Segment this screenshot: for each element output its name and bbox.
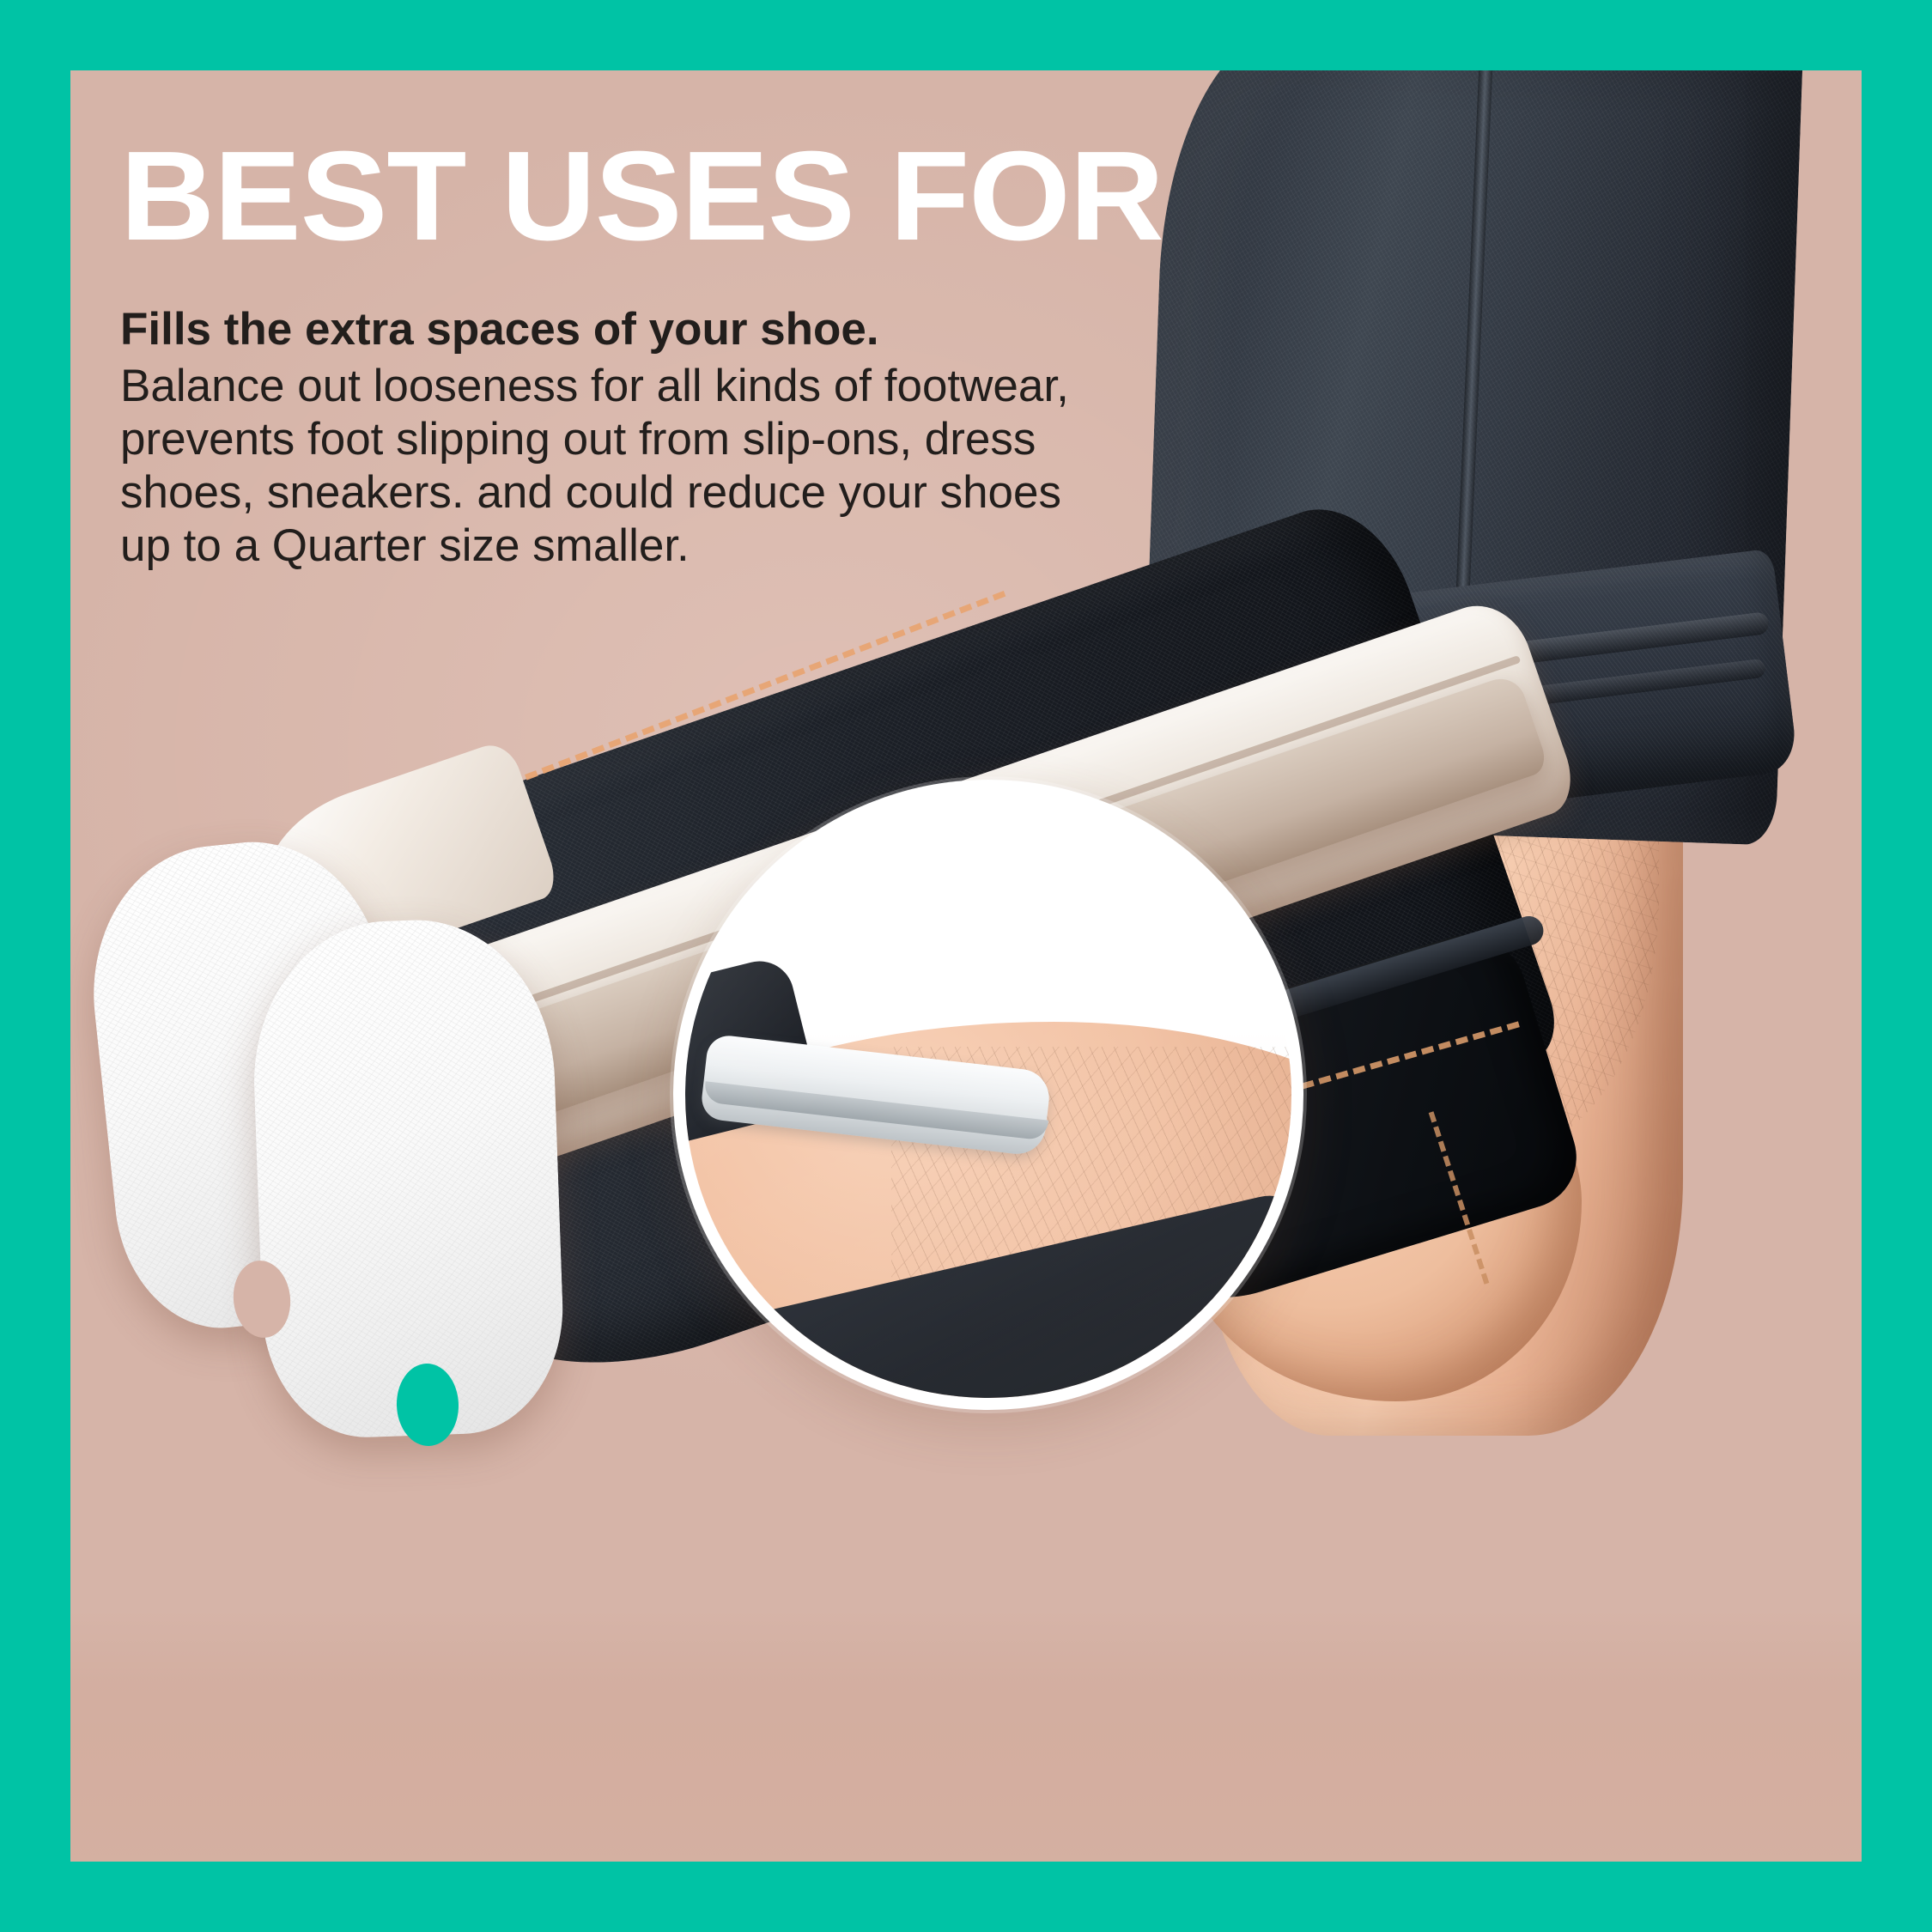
body-paragraph: Balance out looseness for all kinds of f…: [120, 360, 1194, 573]
photo-canvas: BEST USES FOR Fills the extra spaces of …: [70, 70, 1862, 1862]
body-line: prevents foot slipping out from slip-ons…: [120, 413, 1194, 466]
body-line: Balance out looseness for all kinds of f…: [120, 360, 1194, 413]
insert-pad-front: [249, 915, 568, 1441]
page-title: BEST USES FOR: [120, 137, 1226, 256]
poster-frame: BEST USES FOR Fills the extra spaces of …: [0, 0, 1932, 1932]
body-line: up to a Quarter size smaller.: [120, 519, 1194, 573]
lead-paragraph: Fills the extra spaces of your shoe.: [120, 304, 1194, 355]
magnifier-circle: [673, 780, 1303, 1410]
body-line: shoes, sneakers. and could reduce your s…: [120, 466, 1194, 519]
text-block: BEST USES FOR Fills the extra spaces of …: [120, 137, 1194, 573]
